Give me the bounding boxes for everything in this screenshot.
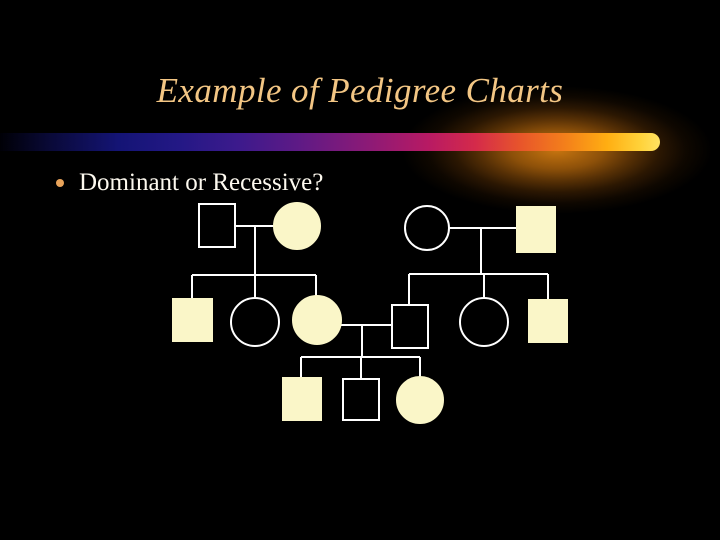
pedigree-symbol-male-affected-II-1 [173,299,212,341]
pedigree-symbol-male-unaffected-III-2 [343,379,379,420]
pedigree-symbol-female-unaffected-II-5 [460,298,508,346]
pedigree-symbols [173,203,567,423]
slide-canvas: Example of Pedigree Charts Dominant or R… [0,0,720,540]
pedigree-chart [0,0,720,540]
pedigree-symbol-male-unaffected-II-4 [392,305,428,348]
pedigree-symbol-male-unaffected-I-1 [199,204,235,247]
pedigree-symbol-female-affected-II-3 [293,296,341,344]
pedigree-symbol-male-affected-III-1 [283,378,321,420]
pedigree-symbol-female-unaffected-I-3 [405,206,449,250]
pedigree-symbol-female-affected-I-2 [274,203,320,249]
pedigree-symbol-female-unaffected-II-2 [231,298,279,346]
pedigree-symbol-male-affected-I-4 [517,207,555,252]
pedigree-symbol-female-affected-III-3 [397,377,443,423]
pedigree-symbol-male-affected-II-6 [529,300,567,342]
